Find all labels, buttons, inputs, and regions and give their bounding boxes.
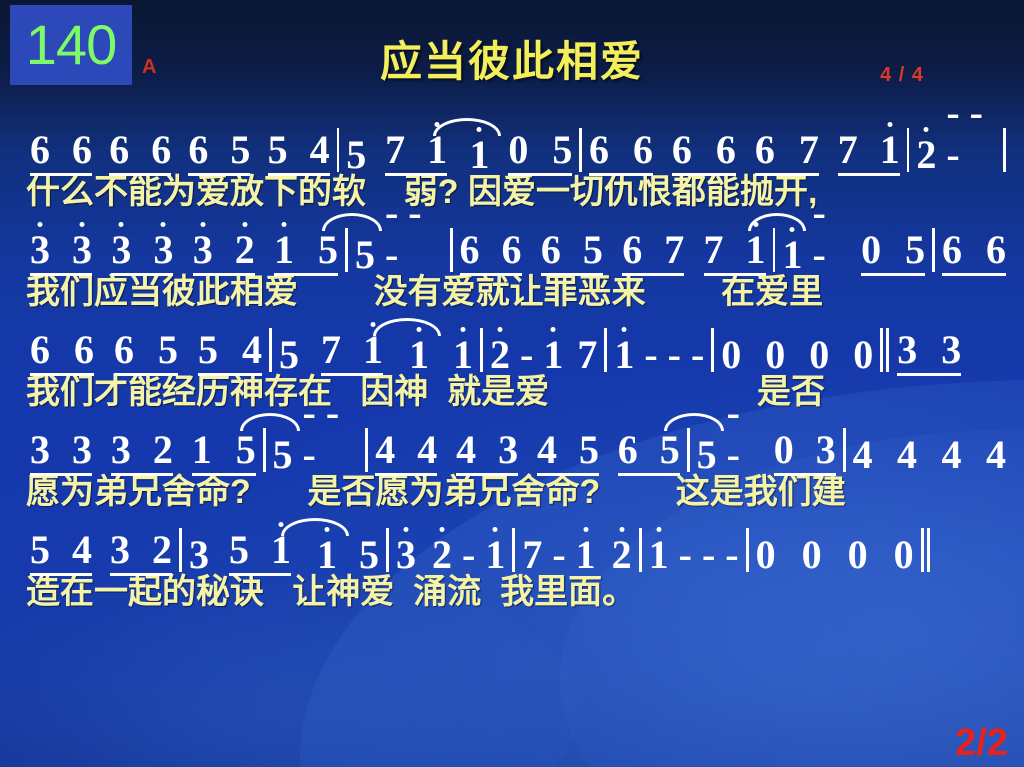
score-system: 66 66 65 54 5 71 1 05 66 66 67 — [0, 118, 1024, 212]
notation-row: 33 33 32 15 5 - - - 66 65 67 71 1 — [0, 218, 1024, 276]
score-system: 54 32 3 51 1 5 3 2 - 1 7 - 1 — [0, 518, 1024, 612]
score-system: 66 65 54 5 71 1 1 2 - 1 7 1 — [0, 318, 1024, 412]
slide-canvas: 140 A 应当彼此相爱 4 / 4 2/2 66 66 65 54 5 71 … — [0, 0, 1024, 767]
page-number: 2/2 — [955, 722, 1008, 765]
time-signature: 4 / 4 — [880, 64, 924, 87]
notation-row: 33 32 15 5 - - - 44 43 45 65 5 - - — [0, 418, 1024, 476]
score-system: 33 33 32 15 5 - - - 66 65 67 71 1 — [0, 218, 1024, 312]
notation-row: 54 32 3 51 1 5 3 2 - 1 7 - 1 — [0, 518, 1024, 576]
lyrics-line: 愿为弟兄舍命? 是否愿为弟兄舍命? 这是我们建 — [0, 472, 1024, 512]
musical-score: 66 66 65 54 5 71 1 05 66 66 67 — [0, 118, 1024, 618]
notation-row: 66 66 65 54 5 71 1 05 66 66 67 — [0, 118, 1024, 176]
lyrics-line: 我们才能经历神存在 因神 就是爱 是否 — [0, 372, 1024, 412]
lyrics-line: 什么不能为爱放下的软 弱? 因爱一切仇恨都能抛开, — [0, 172, 1024, 212]
lyrics-line: 我们应当彼此相爱 没有爱就让罪恶来 在爱里 — [0, 272, 1024, 312]
score-system: 33 32 15 5 - - - 44 43 45 65 5 - - — [0, 418, 1024, 512]
page-title: 应当彼此相爱 — [0, 28, 1024, 89]
notation-row: 66 65 54 5 71 1 1 2 - 1 7 1 — [0, 318, 1024, 376]
lyrics-line: 造在一起的秘诀 让神爱 涌流 我里面。 — [0, 572, 1024, 612]
